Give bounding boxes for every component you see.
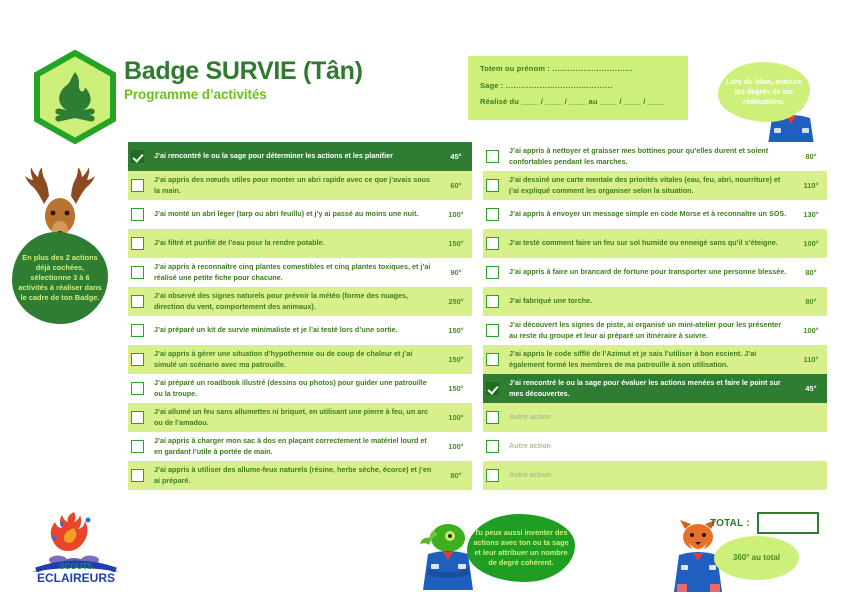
- degree-value: 100°: [440, 432, 472, 461]
- degree-value: 150°: [440, 345, 472, 374]
- total-input-box[interactable]: [757, 512, 819, 534]
- deer-speech-bubble: En plus des 2 actions déjà cochées, séle…: [12, 232, 108, 324]
- activity-text: J’ai découvert les signes de piste, ai o…: [502, 316, 795, 345]
- degree-value: 130°: [795, 200, 827, 229]
- degree-value: [795, 461, 827, 490]
- activity-text: J’ai appris à utiliser des allume-feux n…: [147, 461, 440, 490]
- checkbox-icon[interactable]: [486, 469, 499, 482]
- checkbox-cell[interactable]: [483, 258, 502, 287]
- page-title: Badge SURVIE (Tân): [124, 58, 363, 84]
- checkbox-icon[interactable]: [131, 295, 144, 308]
- checkmark-icon[interactable]: [131, 150, 144, 163]
- checkbox-icon[interactable]: [486, 266, 499, 279]
- checkbox-cell[interactable]: [483, 316, 502, 345]
- activity-text: J’ai testé comment faire un feu sur sol …: [502, 229, 795, 258]
- activity-text: Autre action: [502, 403, 795, 432]
- degree-value: 100°: [440, 200, 472, 229]
- total-section: TOTAL :: [710, 512, 819, 534]
- activity-text: Autre action: [502, 461, 795, 490]
- checkbox-cell[interactable]: [483, 403, 502, 432]
- svg-text:SCOUTS: SCOUTS: [59, 562, 93, 571]
- checkbox-cell[interactable]: [483, 345, 502, 374]
- checkbox-icon[interactable]: [131, 353, 144, 366]
- checkbox-icon[interactable]: [131, 266, 144, 279]
- left-activity-table: J’ai rencontré le ou la sage pour déterm…: [128, 142, 440, 490]
- checkbox-cell[interactable]: [483, 461, 502, 490]
- checkbox-cell[interactable]: [128, 200, 147, 229]
- table-row[interactable]: J’ai monté un abri léger (tarp ou abri f…: [128, 200, 440, 229]
- activity-sheet-page: Badge SURVIE (Tân) Programme d’activités…: [0, 0, 842, 595]
- checkbox-cell[interactable]: [483, 374, 502, 403]
- degree-value: 100°: [440, 403, 472, 432]
- identity-box: Totem ou prénom : ......................…: [468, 56, 688, 120]
- checkmark-icon[interactable]: [486, 382, 499, 395]
- right-activity-table: J’ai appris à nettoyer et graisser mes b…: [483, 142, 795, 490]
- degree-value: 150°: [440, 229, 472, 258]
- checkbox-cell[interactable]: [128, 258, 147, 287]
- checkbox-icon[interactable]: [486, 353, 499, 366]
- checkbox-icon[interactable]: [486, 411, 499, 424]
- checkbox-cell[interactable]: [483, 432, 502, 461]
- table-row[interactable]: Autre action: [483, 403, 795, 432]
- activity-text: J’ai préparé un kit de survie minimalist…: [147, 316, 440, 345]
- checkbox-cell[interactable]: [128, 142, 147, 171]
- checkbox-icon[interactable]: [486, 237, 499, 250]
- fox-top-speech-bubble: Lors du bilan, entoure les degrés de tes…: [718, 62, 810, 122]
- degree-value: 110°: [795, 171, 827, 200]
- degree-value: 100°: [795, 316, 827, 345]
- sage-label: Sage :: [480, 81, 503, 90]
- activity-text: J’ai rencontré le ou la sage pour évalue…: [502, 374, 795, 403]
- checkbox-icon[interactable]: [131, 324, 144, 337]
- checkbox-icon[interactable]: [486, 440, 499, 453]
- degree-value: 150°: [440, 374, 472, 403]
- activity-text: J’ai allumé un feu sans allumettes ni br…: [147, 403, 440, 432]
- checkbox-cell[interactable]: [483, 171, 502, 200]
- activity-text: J’ai appris des nœuds utiles pour monter…: [147, 171, 440, 200]
- checkbox-icon[interactable]: [131, 440, 144, 453]
- table-row[interactable]: Autre action: [483, 461, 795, 490]
- checkbox-icon[interactable]: [131, 382, 144, 395]
- page-title-block: Badge SURVIE (Tân) Programme d’activités: [124, 58, 363, 102]
- degree-value: 80°: [795, 258, 827, 287]
- activity-text: J’ai appris à gérer une situation d’hypo…: [147, 345, 440, 374]
- degree-value: 110°: [795, 345, 827, 374]
- table-row[interactable]: Autre action: [483, 432, 795, 461]
- fox-bottom-speech-bubble: 360° au total: [714, 536, 799, 580]
- activity-text: J’ai filtré et purifié de l’eau pour la …: [147, 229, 440, 258]
- checkbox-cell[interactable]: [128, 287, 147, 316]
- degree-value: 80°: [795, 142, 827, 171]
- activity-text: J’ai appris le code sifflé de l’Azimut e…: [502, 345, 795, 374]
- checkbox-cell[interactable]: [128, 374, 147, 403]
- activity-text: J’ai dessiné une carte mentale des prior…: [502, 171, 795, 200]
- activity-text: J’ai appris à envoyer un message simple …: [502, 200, 795, 229]
- table-row[interactable]: J’ai observé des signes naturels pour pr…: [128, 287, 440, 316]
- totem-label: Totem ou prénom :: [480, 64, 550, 73]
- degree-value: 80°: [440, 461, 472, 490]
- table-row[interactable]: J’ai appris à gérer une situation d’hypo…: [128, 345, 440, 374]
- checkbox-icon[interactable]: [131, 237, 144, 250]
- checkbox-icon[interactable]: [486, 324, 499, 337]
- degree-value: 250°: [440, 287, 472, 316]
- svg-text:ECLAIREURS: ECLAIREURS: [37, 571, 115, 585]
- table-row[interactable]: J’ai appris à nettoyer et graisser mes b…: [483, 142, 795, 171]
- degree-value: 45°: [795, 374, 827, 403]
- checkbox-cell[interactable]: [483, 200, 502, 229]
- date-range-field[interactable]: Réalisé du ____ / ____ / ____ au ____ / …: [480, 97, 676, 106]
- checkbox-cell[interactable]: [128, 229, 147, 258]
- degree-value: 150°: [440, 316, 472, 345]
- checkbox-icon[interactable]: [131, 208, 144, 221]
- table-row[interactable]: J’ai rencontré le ou la sage pour déterm…: [128, 142, 440, 171]
- total-label: TOTAL :: [710, 518, 750, 529]
- checkbox-cell[interactable]: [483, 142, 502, 171]
- table-row[interactable]: J’ai fabriqué une torche.: [483, 287, 795, 316]
- table-row[interactable]: J’ai préparé un roadbook illustré (dessi…: [128, 374, 440, 403]
- checkbox-cell[interactable]: [483, 287, 502, 316]
- activity-text: J’ai préparé un roadbook illustré (dessi…: [147, 374, 440, 403]
- sage-field-row[interactable]: Sage : .................................…: [480, 81, 676, 90]
- activity-text: J’ai rencontré le ou la sage pour déterm…: [147, 142, 440, 171]
- left-degree-column: 45°60°100°150°90°250°150°150°150°100°100…: [440, 142, 472, 490]
- checkbox-cell[interactable]: [128, 403, 147, 432]
- activity-text: J’ai observé des signes naturels pour pr…: [147, 287, 440, 316]
- activity-text: J’ai appris à faire un brancard de fortu…: [502, 258, 795, 287]
- activity-text: J’ai monté un abri léger (tarp ou abri f…: [147, 200, 440, 229]
- degree-value: 80°: [795, 287, 827, 316]
- sage-input-line[interactable]: ........................................…: [506, 81, 613, 90]
- degree-value: [795, 432, 827, 461]
- totem-field-row[interactable]: Totem ou prénom : ......................…: [480, 64, 676, 73]
- degree-value: 100°: [795, 229, 827, 258]
- activity-text: J’ai appris à reconnaître cinq plantes c…: [147, 258, 440, 287]
- checkbox-cell[interactable]: [128, 461, 147, 490]
- campfire-hexagon-badge-icon: [33, 50, 117, 144]
- checkbox-icon[interactable]: [486, 179, 499, 192]
- table-row[interactable]: J’ai appris à charger mon sac à dos en p…: [128, 432, 440, 461]
- table-row[interactable]: J’ai appris à utiliser des allume-feux n…: [128, 461, 440, 490]
- activity-text: J’ai appris à charger mon sac à dos en p…: [147, 432, 440, 461]
- degree-value: 45°: [440, 142, 472, 171]
- table-row[interactable]: J’ai appris des nœuds utiles pour monter…: [128, 171, 440, 200]
- degree-value: 60°: [440, 171, 472, 200]
- table-row[interactable]: J’ai préparé un kit de survie minimalist…: [128, 316, 440, 345]
- table-row[interactable]: J’ai dessiné une carte mentale des prior…: [483, 171, 795, 200]
- table-row[interactable]: J’ai appris à reconnaître cinq plantes c…: [128, 258, 440, 287]
- page-subtitle: Programme d’activités: [124, 87, 363, 102]
- checkbox-icon[interactable]: [131, 179, 144, 192]
- table-row[interactable]: J’ai découvert les signes de piste, ai o…: [483, 316, 795, 345]
- table-row[interactable]: J’ai rencontré le ou la sage pour évalue…: [483, 374, 795, 403]
- table-row[interactable]: J’ai testé comment faire un feu sur sol …: [483, 229, 795, 258]
- checkbox-icon[interactable]: [131, 411, 144, 424]
- chameleon-speech-bubble: Tu peux aussi inventer des actions avec …: [467, 514, 575, 582]
- degree-value: 90°: [440, 258, 472, 287]
- checkbox-cell[interactable]: [128, 345, 147, 374]
- table-row[interactable]: J’ai appris le code sifflé de l’Azimut e…: [483, 345, 795, 374]
- totem-input-line[interactable]: ...............................: [552, 64, 633, 73]
- checkbox-cell[interactable]: [128, 432, 147, 461]
- degree-value: [795, 403, 827, 432]
- checkbox-icon[interactable]: [486, 295, 499, 308]
- checkbox-cell[interactable]: [128, 316, 147, 345]
- table-row[interactable]: J’ai appris à envoyer un message simple …: [483, 200, 795, 229]
- right-degree-column: 80°110°130°100°80°80°100°110°45°: [795, 142, 827, 490]
- checkbox-icon[interactable]: [486, 208, 499, 221]
- table-row[interactable]: J’ai appris à faire un brancard de fortu…: [483, 258, 795, 287]
- checkbox-icon[interactable]: [131, 469, 144, 482]
- scouts-eclaireurs-logo: SCOUTS ECLAIREURS: [28, 508, 124, 586]
- checkbox-cell[interactable]: [128, 171, 147, 200]
- table-row[interactable]: J’ai filtré et purifié de l’eau pour la …: [128, 229, 440, 258]
- checkbox-cell[interactable]: [483, 229, 502, 258]
- activity-text: J’ai appris à nettoyer et graisser mes b…: [502, 142, 795, 171]
- activity-text: J’ai fabriqué une torche.: [502, 287, 795, 316]
- activity-text: Autre action: [502, 432, 795, 461]
- checkbox-icon[interactable]: [486, 150, 499, 163]
- table-row[interactable]: J’ai allumé un feu sans allumettes ni br…: [128, 403, 440, 432]
